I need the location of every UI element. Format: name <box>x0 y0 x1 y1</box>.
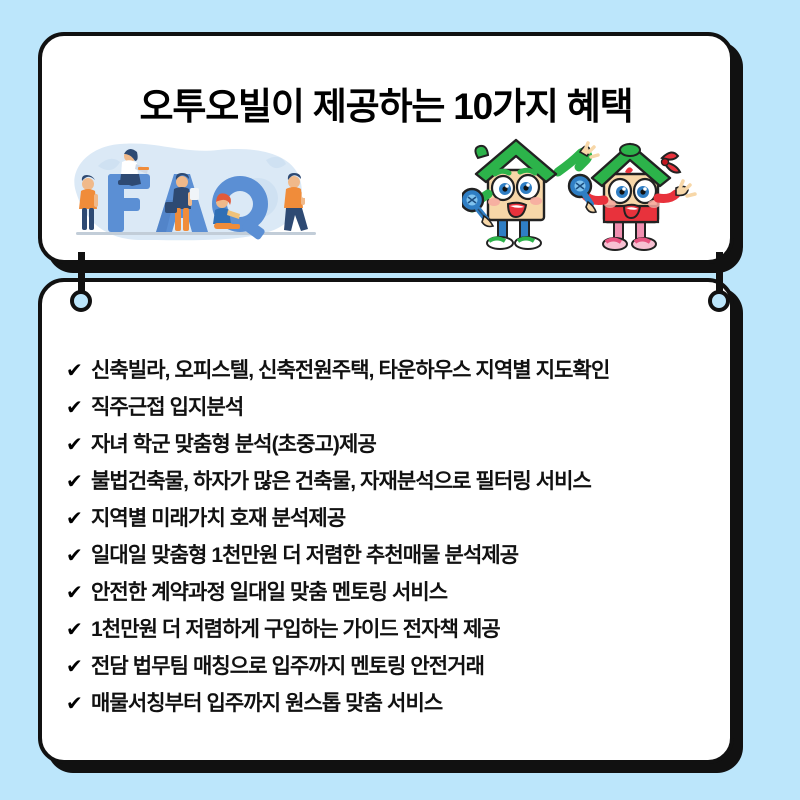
check-icon: ✔ <box>66 583 91 603</box>
benefit-item: ✔지역별 미래가치 호재 분석제공 <box>66 502 716 539</box>
check-icon: ✔ <box>66 361 91 381</box>
faq-illustration <box>62 140 340 248</box>
benefit-text: 신축빌라, 오피스텔, 신축전원주택, 타운하우스 지역별 지도확인 <box>91 354 716 384</box>
house-mascots-illustration <box>462 128 718 256</box>
benefits-list: ✔신축빌라, 오피스텔, 신축전원주택, 타운하우스 지역별 지도확인✔직주근접… <box>66 354 716 724</box>
page-title: 오투오빌이 제공하는 10가지 혜택 <box>42 76 730 130</box>
infographic-board: 오투오빌이 제공하는 10가지 혜택 <box>0 0 800 800</box>
benefit-text: 자녀 학군 맞춤형 분석(초중고)제공 <box>91 428 716 458</box>
benefit-item: ✔전담 법무팀 매칭으로 입주까지 멘토링 안전거래 <box>66 650 716 687</box>
check-icon: ✔ <box>66 435 91 455</box>
benefit-item: ✔직주근접 입지분석 <box>66 391 716 428</box>
header-card: 오투오빌이 제공하는 10가지 혜택 <box>38 32 734 264</box>
benefit-item: ✔안전한 계약과정 일대일 맞춤 멘토링 서비스 <box>66 576 716 613</box>
benefit-text: 매물서칭부터 입주까지 원스톱 맞춤 서비스 <box>91 687 716 717</box>
benefit-text: 안전한 계약과정 일대일 맞춤 멘토링 서비스 <box>91 576 716 606</box>
check-icon: ✔ <box>66 398 91 418</box>
benefit-item: ✔1천만원 더 저렴하게 구입하는 가이드 전자책 제공 <box>66 613 716 650</box>
check-icon: ✔ <box>66 657 91 677</box>
benefit-text: 전담 법무팀 매칭으로 입주까지 멘토링 안전거래 <box>91 650 716 680</box>
benefit-text: 불법건축물, 하자가 많은 건축물, 자재분석으로 필터링 서비스 <box>91 465 716 495</box>
hanging-pin-left-ring <box>70 290 92 312</box>
hanging-pin-right-ring <box>708 290 730 312</box>
benefit-text: 직주근접 입지분석 <box>91 391 716 421</box>
check-icon: ✔ <box>66 472 91 492</box>
benefit-item: ✔일대일 맞춤형 1천만원 더 저렴한 추천매물 분석제공 <box>66 539 716 576</box>
faq-person-walking <box>284 173 312 231</box>
benefit-text: 일대일 맞춤형 1천만원 더 저렴한 추천매물 분석제공 <box>91 539 716 569</box>
benefit-item: ✔불법건축물, 하자가 많은 건축물, 자재분석으로 필터링 서비스 <box>66 465 716 502</box>
benefit-item: ✔매물서칭부터 입주까지 원스톱 맞춤 서비스 <box>66 687 716 724</box>
benefits-card: ✔신축빌라, 오피스텔, 신축전원주택, 타운하우스 지역별 지도확인✔직주근접… <box>38 278 734 764</box>
check-icon: ✔ <box>66 509 91 529</box>
benefit-text: 지역별 미래가치 호재 분석제공 <box>91 502 716 532</box>
check-icon: ✔ <box>66 546 91 566</box>
benefit-item: ✔자녀 학군 맞춤형 분석(초중고)제공 <box>66 428 716 465</box>
check-icon: ✔ <box>66 620 91 640</box>
benefit-text: 1천만원 더 저렴하게 구입하는 가이드 전자책 제공 <box>91 613 716 643</box>
check-icon: ✔ <box>66 694 91 714</box>
benefit-item: ✔신축빌라, 오피스텔, 신축전원주택, 타운하우스 지역별 지도확인 <box>66 354 716 391</box>
